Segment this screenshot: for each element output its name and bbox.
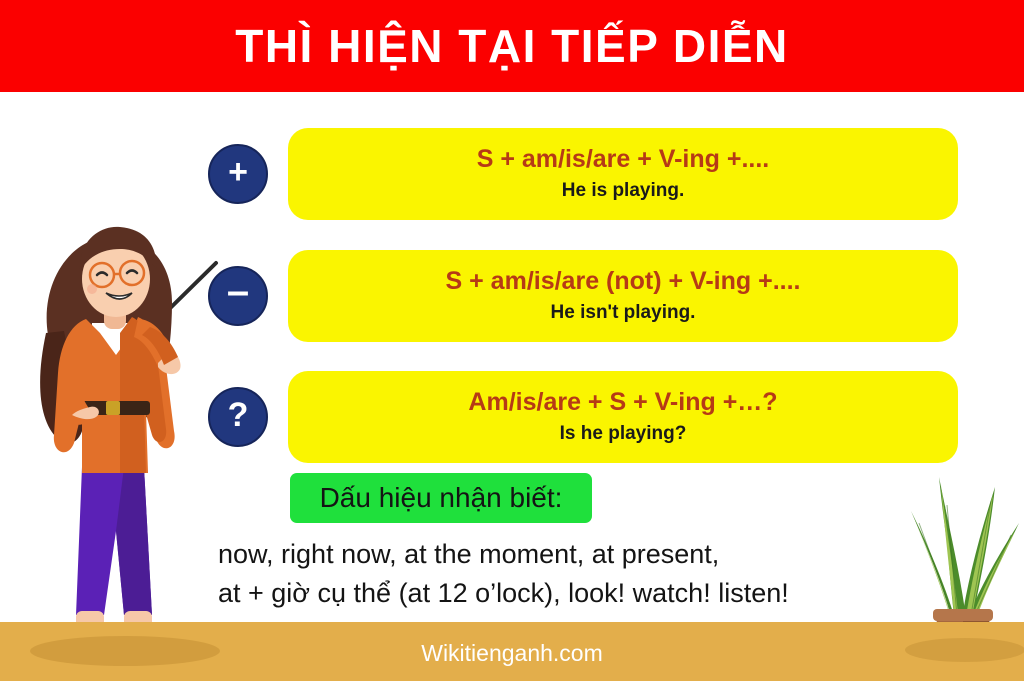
signal-words-list: now, right now, at the moment, at presen… bbox=[218, 535, 958, 613]
title-banner: THÌ HIỆN TẠI TIẾP DIỄN bbox=[0, 0, 1024, 92]
page-title: THÌ HIỆN TẠI TIẾP DIỄN bbox=[235, 19, 789, 73]
formula-text: S + am/is/are (not) + V-ing +.... bbox=[446, 268, 801, 296]
formula-box-interrogative: Am/is/are + S + V-ing +…? Is he playing? bbox=[288, 371, 958, 463]
minus-icon: – bbox=[208, 266, 268, 326]
teacher-illustration bbox=[20, 215, 235, 665]
signal-words-line-2: at + giờ cụ thể (at 12 o’lock), look! wa… bbox=[218, 574, 958, 613]
signal-words-line-1: now, right now, at the moment, at presen… bbox=[218, 535, 958, 574]
formula-box-negative: S + am/is/are (not) + V-ing +.... He isn… bbox=[288, 250, 958, 342]
signal-words-label: Dấu hiệu nhận biết: bbox=[320, 482, 563, 514]
example-text: He isn't playing. bbox=[551, 302, 696, 324]
formula-row-interrogative: ? Am/is/are + S + V-ing +…? Is he playin… bbox=[208, 371, 960, 467]
formula-box-affirmative: S + am/is/are + V-ing +.... He is playin… bbox=[288, 128, 958, 220]
formula-text: S + am/is/are + V-ing +.... bbox=[477, 146, 770, 174]
example-text: He is playing. bbox=[562, 180, 684, 202]
example-text: Is he playing? bbox=[560, 423, 687, 445]
infographic-poster: THÌ HIỆN TẠI TIẾP DIỄN bbox=[0, 0, 1024, 681]
question-mark-icon: ? bbox=[208, 387, 268, 447]
formula-text: Am/is/are + S + V-ing +…? bbox=[468, 389, 777, 417]
footer-site-name: Wikitienganh.com bbox=[0, 640, 1024, 667]
formula-row-affirmative: + S + am/is/are + V-ing +.... He is play… bbox=[208, 128, 960, 224]
formula-row-negative: – S + am/is/are (not) + V-ing +.... He i… bbox=[208, 250, 960, 346]
signal-words-badge: Dấu hiệu nhận biết: bbox=[290, 473, 592, 523]
plus-icon: + bbox=[208, 144, 268, 204]
